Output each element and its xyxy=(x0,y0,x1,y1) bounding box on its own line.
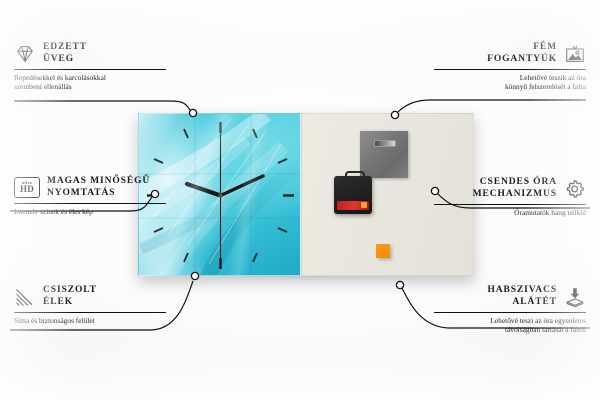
movement-shaft xyxy=(345,171,365,180)
foam-pad-press-icon xyxy=(564,286,586,308)
divider xyxy=(14,69,166,70)
gear-icon xyxy=(564,178,586,200)
feature-subtitle: Intenzív színek és éles kép xyxy=(14,207,166,216)
feature-subtitle: Repedésekkel és karcolásokkal szembeni e… xyxy=(14,73,166,92)
diamond-icon xyxy=(14,43,36,65)
divider xyxy=(14,203,166,204)
feature-title: CSISZOLT ÉLEK xyxy=(43,285,97,308)
feature-csiszolt-elek: CSISZOLT ÉLEK Sima és biztonságos felüle… xyxy=(14,285,166,325)
feature-magas-minosegu-nyomtatas: ultra HD MAGAS MINŐSÉGŰ NYOMTATÁS Intenz… xyxy=(14,176,166,216)
feature-title: MAGAS MINŐSÉGŰ NYOMTATÁS xyxy=(47,176,150,199)
feature-title: FÉM FOGANTYÚK xyxy=(487,42,557,65)
infographic-canvas: EDZETT ÜVEG Repedésekkel és karcolásokka… xyxy=(0,0,600,400)
leader-fem-fogantyuk xyxy=(398,100,586,112)
feature-subtitle: Óramutatók hang nélkül xyxy=(434,208,586,217)
feature-fem-fogantyuk: FÉM FOGANTYÚK Lehetővé teszik az óra kön… xyxy=(434,42,586,92)
feature-head: ultra HD MAGAS MINŐSÉGŰ NYOMTATÁS xyxy=(14,176,166,199)
quartz-movement xyxy=(334,176,372,214)
leader-edzett-uveg xyxy=(14,101,190,110)
polished-edges-icon xyxy=(14,286,36,308)
divider xyxy=(434,69,586,70)
feature-title: HABSZIVACS ALÁTÉT xyxy=(487,285,557,308)
hanger-slot xyxy=(374,140,396,147)
picture-hanger-icon xyxy=(564,43,586,65)
feature-subtitle: Sima és biztonságos felület xyxy=(14,316,166,325)
feature-head: HABSZIVACS ALÁTÉT xyxy=(434,285,586,308)
feature-subtitle: Lehetővé teszik az óra könnyű felszerelé… xyxy=(434,73,586,92)
feature-edzett-uveg: EDZETT ÜVEG Repedésekkel és karcolásokka… xyxy=(14,42,166,92)
battery-terminal xyxy=(361,202,367,208)
divider xyxy=(14,312,166,313)
feature-subtitle: Lehetővé teszi az óra egyenletes távolsá… xyxy=(434,316,586,335)
metal-hanger-plate xyxy=(360,131,408,178)
feature-head: EDZETT ÜVEG xyxy=(14,42,166,65)
divider xyxy=(434,312,586,313)
feature-head: CSISZOLT ÉLEK xyxy=(14,285,166,308)
ultra-hd-icon: ultra HD xyxy=(14,177,40,198)
divider xyxy=(434,204,586,205)
feature-title: EDZETT ÜVEG xyxy=(43,42,87,65)
ultra-hd-large-text: HD xyxy=(20,185,34,194)
feature-habszivacs-alatet: HABSZIVACS ALÁTÉT Lehetővé teszi az óra … xyxy=(434,285,586,335)
battery xyxy=(337,201,369,210)
foam-pad xyxy=(376,244,390,258)
feature-title: CSENDES ÓRA MECHANIZMUS xyxy=(473,177,557,200)
feature-head: FÉM FOGANTYÚK xyxy=(434,42,586,65)
feature-csendes-ora-mechanizmus: CSENDES ÓRA MECHANIZMUS Óramutatók hang … xyxy=(434,177,586,217)
feature-head: CSENDES ÓRA MECHANIZMUS xyxy=(434,177,586,200)
product-image xyxy=(138,113,474,276)
